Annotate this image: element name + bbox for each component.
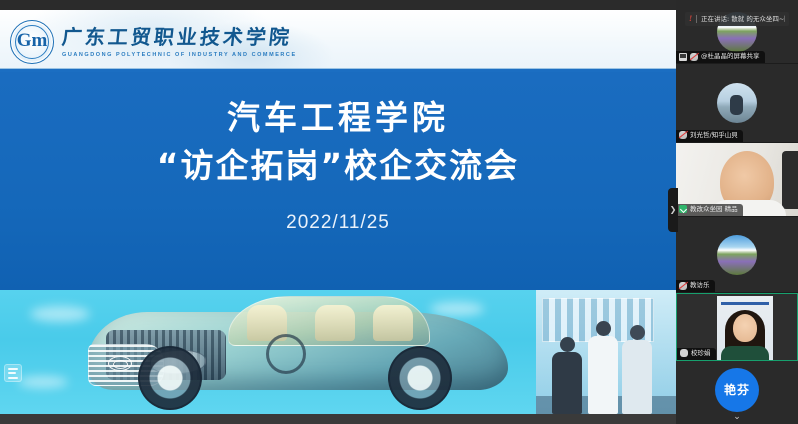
participant-tile[interactable]: 艳芬 ⌄: [676, 361, 798, 424]
participant-tile[interactable]: 刘光哲/知乎山貝: [676, 64, 798, 142]
participant-name: 教访乐: [690, 281, 710, 290]
seal-letter: Gm: [11, 30, 53, 52]
participant-namebar: 校珍娟: [677, 348, 716, 360]
school-name-en: GUANGDONG POLYTECHNIC OF INDUSTRY AND CO…: [62, 51, 297, 59]
participant-rail[interactable]: ! 正在讲话: 散就 的无众坐四~陶... @杜晶晶的屏幕共享 刘光哲/知乎山貝: [676, 0, 798, 424]
speaking-toast: ! 正在讲话: 散就 的无众坐四~陶...: [685, 12, 789, 26]
slide-date: 2022/11/25: [286, 210, 390, 236]
participant-tile[interactable]: 教访乐: [676, 217, 798, 293]
participant-name: @杜晶晶的屏幕共享: [701, 52, 760, 61]
participant-tile-active[interactable]: 校珍娟: [676, 293, 798, 360]
initials-avatar: 艳芬: [715, 368, 759, 412]
slide-title-line1: 汽车工程学院: [227, 96, 449, 140]
shared-screen-stage[interactable]: Gm 广东工贸职业技术学院 GUANGDONG POLYTECHNIC OF I…: [0, 0, 676, 424]
slide-header: Gm 广东工贸职业技术学院 GUANGDONG POLYTECHNIC OF I…: [0, 10, 676, 72]
alert-icon: !: [689, 14, 692, 24]
avatar: [717, 83, 757, 123]
participant-tile[interactable]: ! 正在讲话: 散就 的无众坐四~陶... @杜晶晶的屏幕共享: [676, 0, 798, 64]
school-seal-icon: Gm: [10, 20, 54, 64]
participant-namebar: @杜晶晶的屏幕共享: [676, 51, 765, 63]
stage-top-strip: [0, 0, 676, 10]
screen-share-icon: [679, 53, 687, 61]
school-name-block: 广东工贸职业技术学院 GUANGDONG POLYTECHNIC OF INDU…: [62, 25, 297, 59]
slide-title-line2: “访企拓岗”校企交流会: [157, 142, 519, 190]
slide-title-band: 汽车工程学院 “访企拓岗”校企交流会 2022/11/25: [0, 72, 676, 290]
speaking-toast-text: 正在讲话: 散就 的无众坐四~陶...: [701, 15, 785, 24]
cloud-icon: [18, 376, 68, 388]
participant-namebar: 教访乐: [676, 280, 715, 292]
green-check-icon: [679, 205, 687, 213]
school-name-cn: 广东工贸职业技术学院: [61, 25, 298, 49]
avatar: [717, 235, 757, 275]
participant-name: 教改众坐园 精品: [690, 205, 738, 214]
slide-photo-strip: [0, 290, 676, 414]
participant-name: 校珍娟: [691, 349, 711, 358]
mic-muted-icon: [679, 131, 687, 139]
participant-tile[interactable]: 教改众坐园 精品: [676, 143, 798, 217]
mic-icon: [680, 349, 688, 357]
mic-muted-icon: [690, 53, 698, 61]
xray-car-illustration: [88, 294, 513, 412]
stage-bottom-strip: [0, 414, 676, 424]
meeting-window: Gm 广东工贸职业技术学院 GUANGDONG POLYTECHNIC OF I…: [0, 0, 798, 424]
slide-menu-icon[interactable]: [4, 364, 22, 382]
participant-namebar: 教改众坐园 精品: [676, 204, 743, 216]
chevron-left-icon: ❯: [670, 206, 677, 214]
chevron-down-icon[interactable]: ⌄: [733, 412, 741, 421]
participant-namebar: 刘光哲/知乎山貝: [676, 130, 743, 142]
mic-muted-icon: [679, 282, 687, 290]
students-photo: [536, 290, 676, 414]
presentation-slide: Gm 广东工贸职业技术学院 GUANGDONG POLYTECHNIC OF I…: [0, 10, 676, 414]
school-logo: Gm 广东工贸职业技术学院 GUANGDONG POLYTECHNIC OF I…: [10, 20, 297, 64]
rail-collapse-handle[interactable]: ❯: [668, 188, 678, 232]
cloud-icon: [30, 306, 90, 322]
participant-name: 刘光哲/知乎山貝: [690, 131, 738, 140]
